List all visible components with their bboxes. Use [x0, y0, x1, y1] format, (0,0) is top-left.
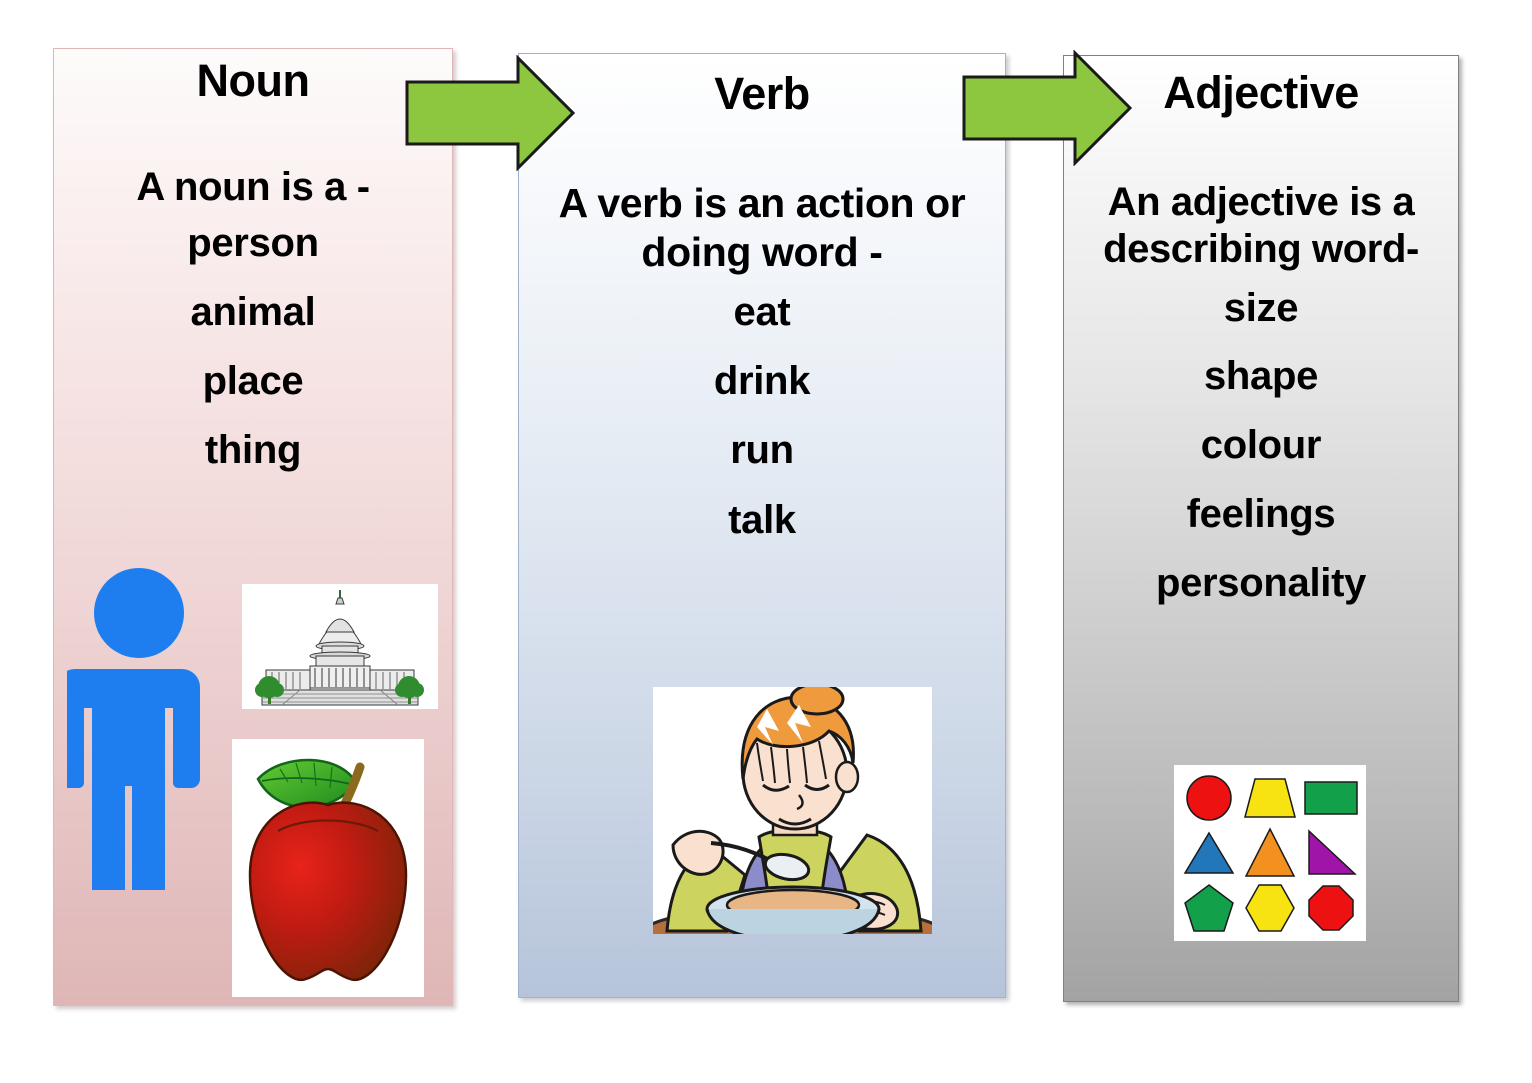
list-item: place	[187, 347, 319, 416]
column-title-verb: Verb	[714, 70, 810, 117]
list-item: drink	[714, 347, 810, 416]
coloured-shapes-grid-image	[1174, 765, 1366, 941]
word-list-verb: eat drink run talk	[714, 278, 810, 555]
rectangle-shape	[1303, 779, 1359, 817]
column-title-noun: Noun	[197, 57, 310, 104]
arrow-verb-to-adjective	[961, 50, 1133, 166]
capitol-building-image	[242, 584, 438, 709]
list-item: feelings	[1156, 480, 1366, 549]
list-item: talk	[714, 486, 810, 555]
column-noun: Noun A noun is a - person animal place t…	[53, 48, 453, 1006]
column-definition-noun: A noun is a -	[126, 164, 379, 211]
list-item: colour	[1156, 411, 1366, 480]
right-triangle-shape	[1305, 829, 1357, 877]
column-definition-verb: A verb is an action or doing word -	[519, 179, 1005, 276]
word-list-adjective: size shape colour feelings personality	[1156, 274, 1366, 618]
list-item: personality	[1156, 549, 1366, 618]
list-item: animal	[187, 278, 319, 347]
trapezoid-shape	[1243, 776, 1297, 820]
list-item: size	[1156, 274, 1366, 343]
triangle-blue-shape	[1183, 830, 1235, 876]
column-adjective: Adjective An adjective is a describing w…	[1063, 55, 1459, 1002]
hexagon-shape	[1244, 883, 1296, 933]
list-item: thing	[187, 416, 319, 485]
column-title-adjective: Adjective	[1163, 69, 1359, 116]
column-definition-adjective: An adjective is a describing word-	[1064, 179, 1458, 273]
circle-shape	[1185, 774, 1233, 822]
list-item: run	[714, 416, 810, 485]
person-pictogram-icon	[67, 565, 212, 890]
list-item: eat	[714, 278, 810, 347]
list-item: shape	[1156, 342, 1366, 411]
arrow-noun-to-verb	[404, 55, 576, 171]
column-verb: Verb A verb is an action or doing word -…	[518, 53, 1006, 998]
pentagon-shape	[1183, 883, 1235, 933]
triangle-orange-shape	[1244, 827, 1296, 879]
girl-eating-soup-image	[653, 687, 932, 934]
octagon-shape	[1307, 884, 1355, 932]
word-list-noun: person animal place thing	[187, 209, 319, 484]
red-apple-image	[232, 739, 424, 997]
watermark-islcollective: iSLCollective.com	[0, 854, 2, 1077]
list-item: person	[187, 209, 319, 278]
